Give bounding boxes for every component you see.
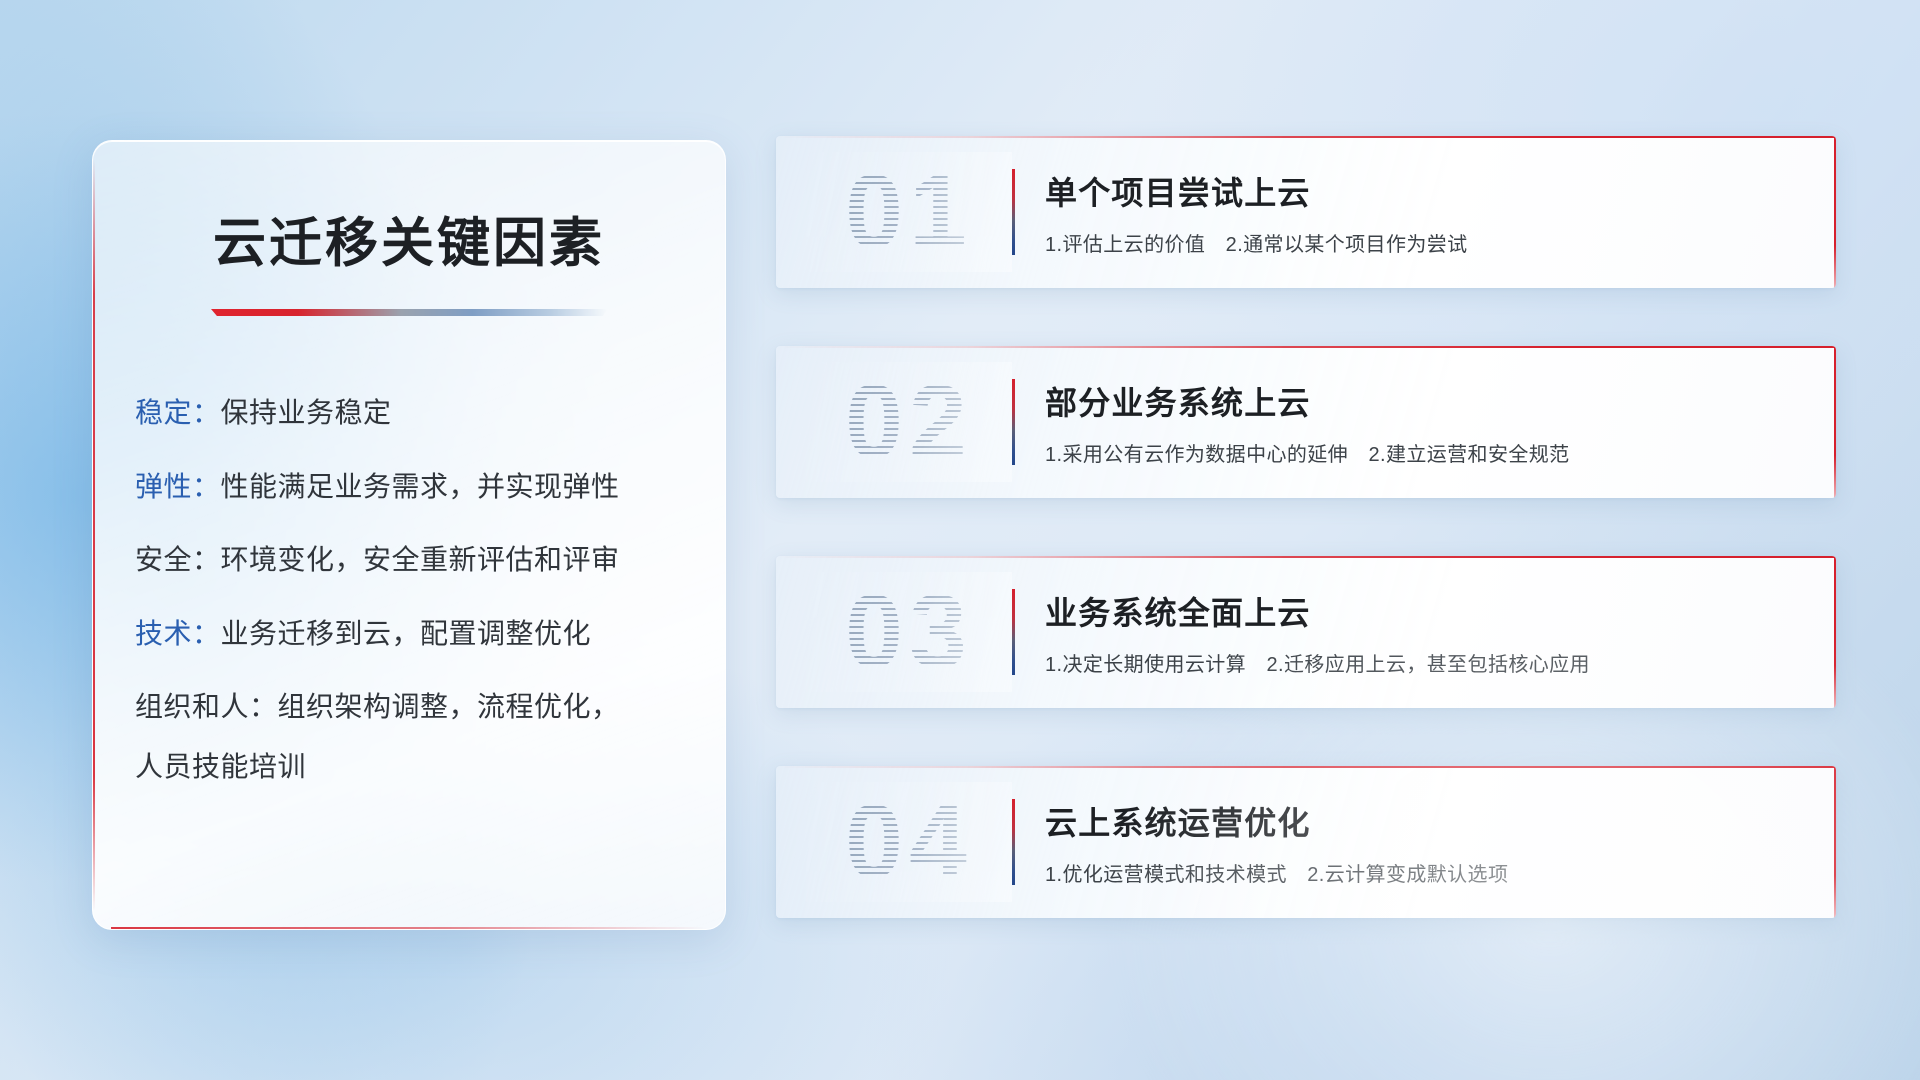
key-factors-panel: 云迁移关键因素 稳定：保持业务稳定 弹性：性能满足业务需求，并实现弹性 安全：环… [92,140,726,930]
stage-subtitle: 1.决定长期使用云计算 2.迁移应用上云，甚至包括核心应用 [1045,648,1802,677]
stage-title: 业务系统全面上云 [1045,588,1802,634]
title-underline-gradient [211,309,607,316]
list-item: 安全：环境变化，安全重新评估和评审 [135,541,725,579]
factor-label: 组织和人： [135,691,278,722]
stage-title: 云上系统运营优化 [1045,798,1802,844]
stage-card-01[interactable]: 01 单个项目尝试上云 1.评估上云的价值 2.通常以某个项目作为尝试 [776,136,1836,288]
list-item: 稳定：保持业务稳定 [135,394,725,432]
list-item: 弹性：性能满足业务需求，并实现弹性 [135,468,725,506]
stage-number-watermark: 02 [806,362,1012,482]
card-top-accent-line [776,136,1836,138]
factor-label: 安全： [135,544,221,575]
factor-label: 稳定： [135,397,221,428]
stage-accent-bar [1012,589,1015,675]
card-right-accent-line [1834,136,1836,288]
factor-text: 业务迁移到云，配置调整优化 [221,618,592,649]
factor-text: 保持业务稳定 [221,397,392,428]
factor-text: 性能满足业务需求，并实现弹性 [221,471,620,502]
slide-canvas: 云迁移关键因素 稳定：保持业务稳定 弹性：性能满足业务需求，并实现弹性 安全：环… [0,0,1920,1080]
panel-bottom-accent-bar [111,927,707,929]
stage-title: 部分业务系统上云 [1045,378,1802,424]
stage-body: 云上系统运营优化 1.优化运营模式和技术模式 2.云计算变成默认选项 [1045,798,1836,887]
stage-body: 部分业务系统上云 1.采用公有云作为数据中心的延伸 2.建立运营和安全规范 [1045,378,1836,467]
stage-accent-bar [1012,169,1015,255]
card-top-accent-line [776,556,1836,558]
migration-stages-list: 01 单个项目尝试上云 1.评估上云的价值 2.通常以某个项目作为尝试 02 部… [776,136,1836,976]
stage-subtitle: 1.评估上云的价值 2.通常以某个项目作为尝试 [1045,228,1802,257]
card-right-accent-line [1834,346,1836,498]
stage-number-watermark: 03 [806,572,1012,692]
key-factors-list: 稳定：保持业务稳定 弹性：性能满足业务需求，并实现弹性 安全：环境变化，安全重新… [135,394,725,785]
card-top-accent-line [776,766,1836,768]
factor-text: 环境变化，安全重新评估和评审 [221,544,620,575]
stage-number-watermark: 01 [806,152,1012,272]
card-right-accent-line [1834,766,1836,918]
stage-subtitle: 1.优化运营模式和技术模式 2.云计算变成默认选项 [1045,858,1802,887]
stage-card-02[interactable]: 02 部分业务系统上云 1.采用公有云作为数据中心的延伸 2.建立运营和安全规范 [776,346,1836,498]
factor-label: 弹性： [135,471,221,502]
stage-accent-bar [1012,379,1015,465]
card-right-accent-line [1834,556,1836,708]
stage-card-03[interactable]: 03 业务系统全面上云 1.决定长期使用云计算 2.迁移应用上云，甚至包括核心应… [776,556,1836,708]
list-item: 组织和人：组织架构调整，流程优化， 人员技能培训 [135,688,725,785]
list-item: 技术：业务迁移到云，配置调整优化 [135,615,725,653]
factor-text: 组织架构调整，流程优化， [278,691,620,722]
stage-accent-bar [1012,799,1015,885]
stage-title: 单个项目尝试上云 [1045,168,1802,214]
card-top-accent-line [776,346,1836,348]
stage-card-04[interactable]: 04 云上系统运营优化 1.优化运营模式和技术模式 2.云计算变成默认选项 [776,766,1836,918]
factor-label: 技术： [135,618,221,649]
stage-body: 单个项目尝试上云 1.评估上云的价值 2.通常以某个项目作为尝试 [1045,168,1836,257]
stage-number-watermark: 04 [806,782,1012,902]
panel-left-accent-bar [93,159,95,911]
page-title: 云迁移关键因素 [93,201,725,277]
stage-body: 业务系统全面上云 1.决定长期使用云计算 2.迁移应用上云，甚至包括核心应用 [1045,588,1836,677]
stage-subtitle: 1.采用公有云作为数据中心的延伸 2.建立运营和安全规范 [1045,438,1802,467]
factor-text-continued: 人员技能培训 [135,748,725,786]
